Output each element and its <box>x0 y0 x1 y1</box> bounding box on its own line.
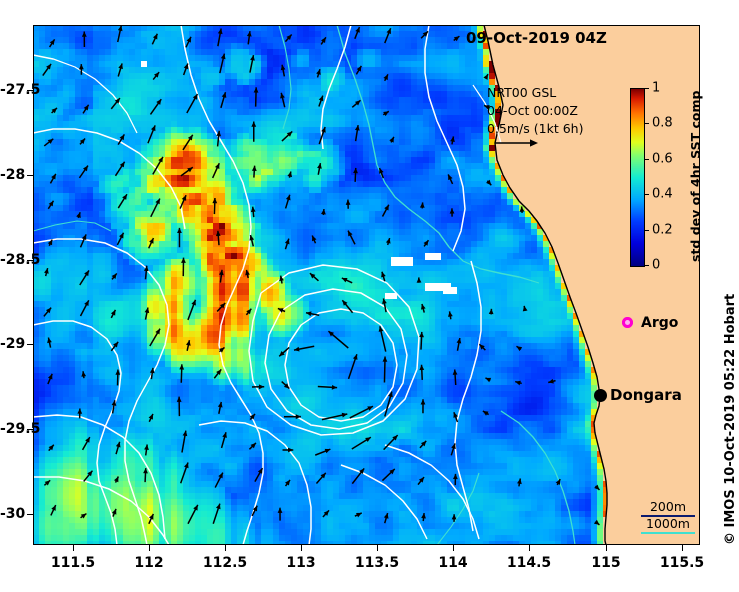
y-axis-label: -30 <box>0 506 24 522</box>
y-axis-label: -27.5 <box>0 82 24 98</box>
map-plot-area[interactable] <box>33 25 700 545</box>
x-axis-label: 111.5 <box>51 555 95 571</box>
colorbar-tick-label: 0 <box>652 258 660 273</box>
x-axis-label: 113 <box>286 555 315 571</box>
colorbar-tick-label: 0.6 <box>652 152 673 167</box>
x-axis-tick <box>149 545 150 551</box>
y-axis-tick <box>27 175 33 176</box>
velocity-key-scale: 0.5m/s (1kt 6h) <box>487 121 583 136</box>
y-axis-tick <box>27 344 33 345</box>
x-axis-tick <box>73 545 74 551</box>
y-axis-tick <box>27 514 33 515</box>
colorbar-tick-label: 0.8 <box>652 116 673 131</box>
y-axis-label: -29 <box>0 336 24 352</box>
city-marker-dongara <box>594 389 607 402</box>
colorbar-tick <box>644 123 649 124</box>
depth-swatch-1000m <box>641 532 695 534</box>
x-axis-label: 112.5 <box>203 555 247 571</box>
colorbar-label: std dev of 4hr SST comp <box>688 91 703 262</box>
city-label-dongara: Dongara <box>610 386 682 404</box>
argo-marker-icon <box>622 317 633 328</box>
argo-legend-label: Argo <box>641 315 678 331</box>
x-axis-tick <box>301 545 302 551</box>
y-axis-label: -29.5 <box>0 421 24 437</box>
x-axis-label: 115.5 <box>660 555 704 571</box>
colorbar-tick <box>644 265 649 266</box>
velocity-key-product: NRT00 GSL <box>487 85 556 100</box>
sst-variance-raster <box>33 25 700 545</box>
x-axis-label: 114 <box>438 555 467 571</box>
x-axis-label: 114.5 <box>507 555 551 571</box>
y-axis-label: -28 <box>0 167 24 183</box>
colorbar-tick <box>644 159 649 160</box>
x-axis-tick <box>682 545 683 551</box>
x-axis-tick <box>225 545 226 551</box>
colorbar-tick-label: 1 <box>652 81 660 96</box>
colorbar-tick <box>644 88 649 89</box>
colorbar-canvas <box>631 89 644 266</box>
colorbar-tick <box>644 230 649 231</box>
x-axis-label: 113.5 <box>355 555 399 571</box>
colorbar-gradient <box>630 88 645 267</box>
velocity-key-arrow-icon <box>494 136 540 150</box>
x-axis-label: 115 <box>591 555 620 571</box>
credit-text: © IMOS 10-Oct-2019 05:22 Hobart <box>723 294 738 545</box>
colorbar-tick-label: 0.2 <box>652 223 673 238</box>
x-axis-tick <box>606 545 607 551</box>
x-axis-label: 112 <box>134 555 163 571</box>
depth-label-200m: 200m <box>650 499 686 514</box>
x-axis-tick <box>529 545 530 551</box>
y-axis-label: -28.5 <box>0 252 24 268</box>
x-axis-tick <box>377 545 378 551</box>
colorbar-tick <box>644 194 649 195</box>
colorbar-tick-label: 0.4 <box>652 187 673 202</box>
figure-canvas: 09-Oct-2019 04Z NRT00 GSL 04-Oct 00:00Z … <box>0 0 739 592</box>
velocity-key-time: 04-Oct 00:00Z <box>487 103 578 118</box>
x-axis-tick <box>453 545 454 551</box>
page-title: 09-Oct-2019 04Z <box>466 29 607 47</box>
depth-label-1000m: 1000m <box>646 516 690 531</box>
